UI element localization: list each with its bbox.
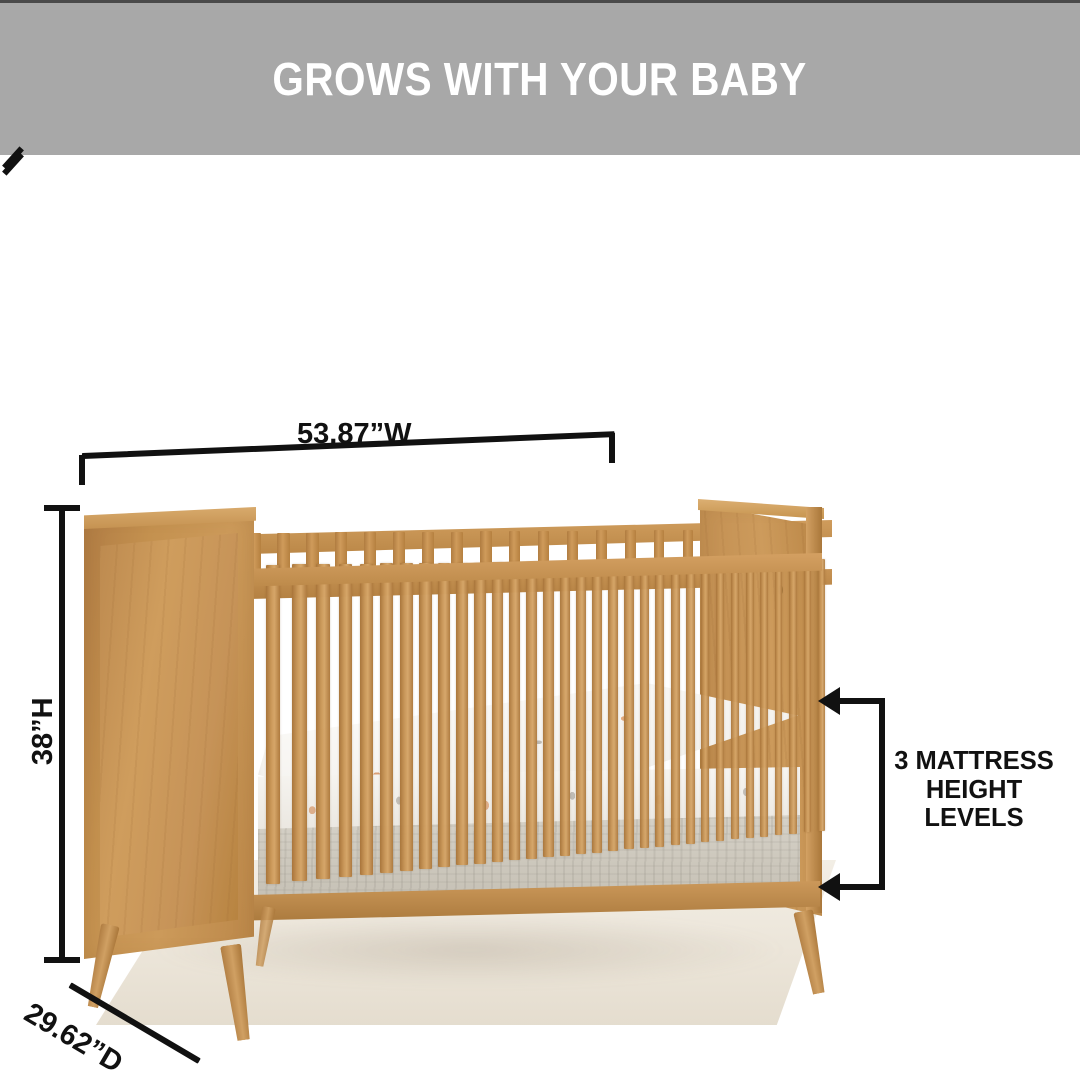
crib-front-slat [576, 561, 586, 854]
mattress-levels-label: 3 MATTRESS HEIGHT LEVELS [889, 747, 1059, 833]
crib-front-slat [804, 559, 811, 832]
crib-front-slat [492, 562, 503, 862]
crib-front-slat [360, 564, 373, 875]
height-dimension-label: 38”H [27, 686, 59, 776]
mattress-levels-bracket-spine [879, 698, 885, 890]
mattress-levels-line-2: HEIGHT [889, 776, 1059, 805]
arrow-left-icon-top [818, 687, 840, 715]
mattress-levels-line-1: 3 MATTRESS [889, 747, 1059, 776]
crib-front-slat [543, 562, 554, 857]
crib-front-slat [608, 561, 618, 851]
crib-front-slat [775, 559, 783, 835]
arrow-left-icon-bottom [818, 873, 840, 901]
crib-front-slats [230, 565, 822, 905]
page-title: GROWS WITH YOUR BABY [273, 56, 807, 102]
crib-front-slat [624, 561, 634, 850]
crib-left-panel-grain [100, 533, 238, 938]
header-banner: GROWS WITH YOUR BABY [0, 3, 1080, 155]
crib-front-slat [640, 561, 649, 848]
crib-front-slat [655, 561, 664, 847]
width-dimension-label: 53.87”W [297, 418, 411, 450]
height-dimension-cap-top [44, 505, 80, 511]
crib-front-slat [456, 563, 468, 866]
crib-front-slat [419, 563, 431, 869]
mattress-levels-line-3: LEVELS [889, 804, 1059, 833]
width-dimension-cap-right [609, 433, 615, 463]
crib-front-slat [339, 564, 353, 877]
crib-front-slat [671, 561, 680, 846]
crib-front-slat [716, 560, 724, 841]
crib-front-slat [592, 561, 602, 852]
crib-front-slat [746, 560, 754, 838]
width-dimension-cap-left [79, 455, 85, 485]
crib-front-slat [509, 562, 520, 860]
crib-front-slat [266, 565, 281, 884]
crib-front-slat [438, 563, 450, 867]
crib-front-slat [760, 560, 768, 837]
crib-front-slat [474, 563, 486, 864]
crib-front-slat [380, 563, 393, 872]
crib-front-slat [526, 562, 537, 859]
crib-front-slat [316, 564, 330, 879]
crib-front-slat [686, 560, 695, 843]
crib-illustration [0, 155, 1080, 1077]
crib-front-slat [789, 559, 796, 833]
crib-front-slat [701, 560, 710, 842]
height-dimension-line [59, 508, 65, 963]
height-dimension-cap-bottom [44, 957, 80, 963]
crib-front-slat [560, 562, 571, 856]
crib-front-slat [731, 560, 739, 839]
crib-front-slat [400, 563, 413, 871]
infographic-page: GROWS WITH YOUR BABY [0, 0, 1080, 1077]
crib-front-slat [292, 564, 306, 881]
product-stage: 53.87”W 38”H 29.62”D 3 MATTRESS HEIGHT L… [0, 155, 1080, 1077]
